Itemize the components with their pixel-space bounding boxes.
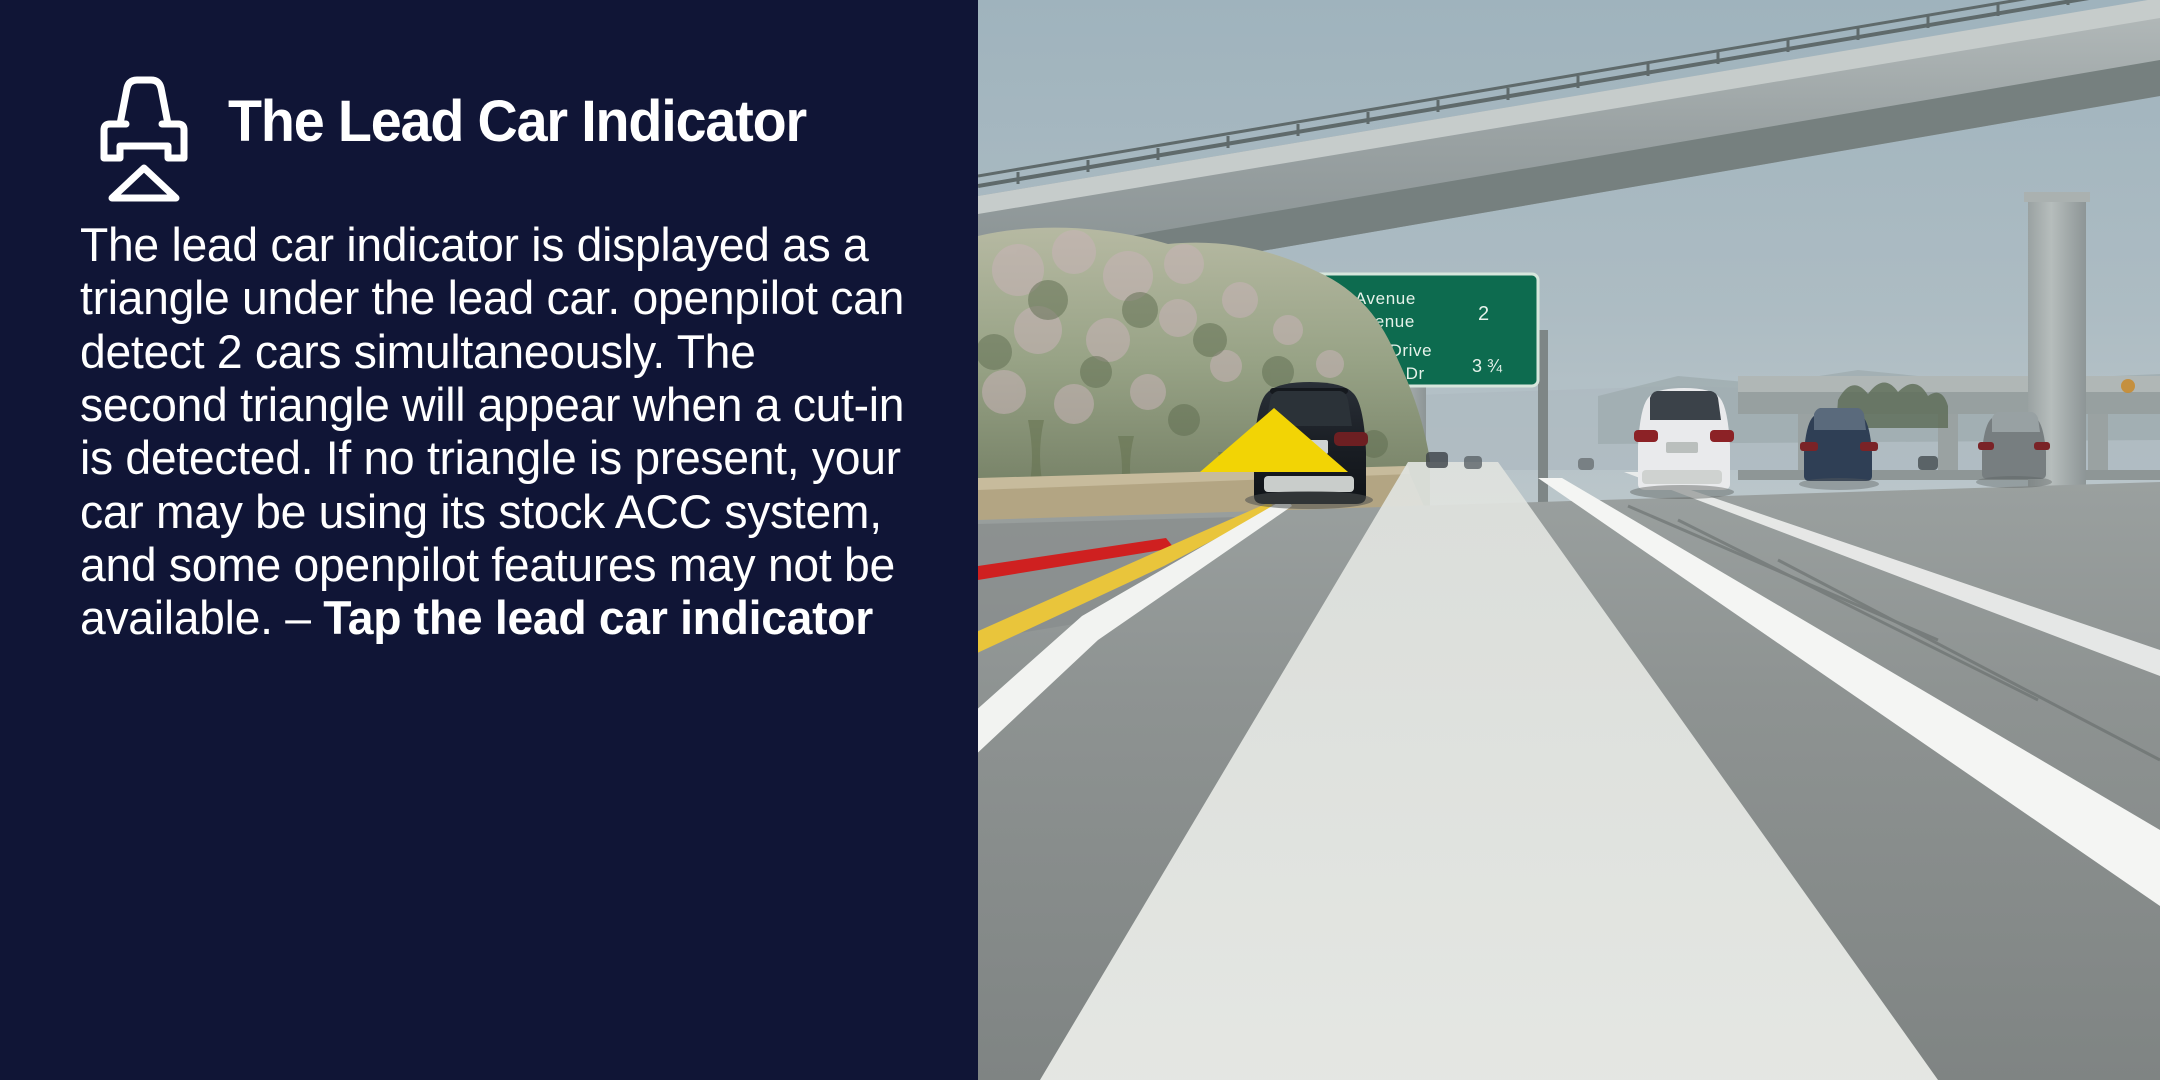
dashcam-photo: Balboa Avenue Garnet Avenue Clairemont D…: [978, 0, 2160, 1080]
info-panel: The Lead Car Indicator The lead car indi…: [0, 0, 978, 1080]
car-right-lane-1: [1630, 388, 1734, 499]
sign-distance-2: 3 ¾: [1472, 356, 1503, 376]
body-paragraph: The lead car indicator is displayed as a…: [80, 218, 912, 645]
lead-car-triangle-icon: [96, 72, 192, 204]
sign-distance-1: 2: [1478, 303, 1489, 325]
lead-car: [1245, 382, 1373, 509]
slide-root: The Lead Car Indicator The lead car indi…: [0, 0, 2160, 1080]
far-sign-light: [2121, 379, 2135, 393]
far-overpass: [1738, 376, 2160, 480]
body-text-tail: available. –: [80, 591, 323, 644]
body-text-main: The lead car indicator is displayed as a…: [80, 218, 904, 591]
page-title: The Lead Car Indicator: [228, 92, 806, 153]
body-text-cta: Tap the lead car indicator: [323, 591, 873, 644]
